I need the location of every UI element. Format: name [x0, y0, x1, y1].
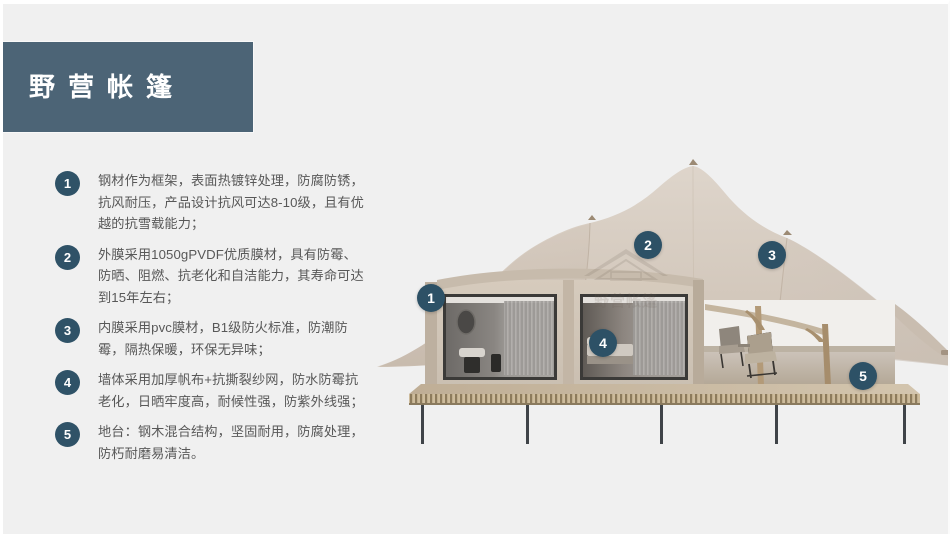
deck-leg	[775, 405, 778, 444]
deck-leg	[526, 405, 529, 444]
hotspot-badge-4[interactable]: 4	[589, 329, 617, 357]
feature-text-3: 内膜采用pvc膜材，B1级防火标准，防潮防霉，隔热保暖，环保无异味；	[98, 317, 366, 360]
feature-badge-1: 1	[55, 171, 80, 196]
deck-edge-striped	[409, 394, 920, 404]
feature-text-1: 钢材作为框架，表面热镀锌处理，防腐防锈，抗风耐压，产品设计抗风可达8-10级，且…	[98, 170, 366, 235]
canopy-peak-left	[588, 215, 596, 220]
wall-edge-right	[693, 280, 704, 388]
page-title-block: 野营帐篷	[3, 42, 253, 132]
page-title: 野营帐篷	[29, 74, 185, 100]
deck-top	[409, 384, 920, 394]
hotspot-badge-1[interactable]: 1	[417, 284, 445, 312]
hotspot-badge-5[interactable]: 5	[849, 362, 877, 390]
curtain-left	[504, 301, 554, 375]
hotspot-badge-2[interactable]: 2	[634, 231, 662, 259]
bed-base	[587, 356, 633, 364]
tent-drawing	[375, 154, 950, 444]
vanity-icon	[464, 357, 480, 373]
feature-text-5: 地台：钢木混合结构，坚固耐用，防腐处理，防朽耐磨易清洁。	[98, 421, 366, 464]
infographic-page: 野营帐篷 1 钢材作为框架，表面热镀锌处理，防腐防锈，抗风耐压，产品设计抗风可达…	[0, 0, 950, 534]
hotspot-badge-3[interactable]: 3	[758, 241, 786, 269]
feature-badge-2: 2	[55, 245, 80, 270]
list-item: 4 墙体采用加厚帆布+抗撕裂纱网，防水防霉抗老化，日晒牢度高，耐候性强，防紫外线…	[55, 369, 375, 412]
feature-badge-3: 3	[55, 318, 80, 343]
list-item: 1 钢材作为框架，表面热镀锌处理，防腐防锈，抗风耐压，产品设计抗风可达8-10级…	[55, 170, 375, 235]
curtain-right	[633, 301, 685, 375]
wall-divider	[563, 280, 574, 388]
side-table	[738, 344, 750, 347]
sink-icon	[459, 348, 485, 357]
deck-leg	[903, 405, 906, 444]
feature-text-4: 墙体采用加厚帆布+抗撕裂纱网，防水防霉抗老化，日晒牢度高，耐候性强，防紫外线强；	[98, 369, 366, 412]
list-item: 5 地台：钢木混合结构，坚固耐用，防腐处理，防朽耐磨易清洁。	[55, 421, 375, 464]
feature-badge-5: 5	[55, 422, 80, 447]
deck-leg	[421, 405, 424, 444]
list-item: 2 外膜采用1050gPVDF优质膜材，具有防霉、防晒、阻燃、抗老化和自洁能力，…	[55, 244, 375, 309]
tent-illustration: 野营帐篷 1 2 3 4 5	[375, 154, 950, 444]
canopy-peak-right	[783, 230, 792, 235]
deck-leg	[660, 405, 663, 444]
list-item: 3 内膜采用pvc膜材，B1级防火标准，防潮防霉，隔热保暖，环保无异味；	[55, 317, 375, 360]
feature-badge-4: 4	[55, 370, 80, 395]
canopy-peak-center	[689, 159, 698, 165]
tension-anchor-icon	[941, 350, 950, 355]
deck-edge-shadow	[409, 403, 920, 405]
mirror-icon	[457, 310, 475, 334]
feature-text-2: 外膜采用1050gPVDF优质膜材，具有防霉、防晒、阻燃、抗老化和自洁能力，其寿…	[98, 244, 366, 309]
feature-list: 1 钢材作为框架，表面热镀锌处理，防腐防锈，抗风耐压，产品设计抗风可达8-10级…	[55, 170, 375, 473]
bin-icon	[491, 354, 501, 372]
